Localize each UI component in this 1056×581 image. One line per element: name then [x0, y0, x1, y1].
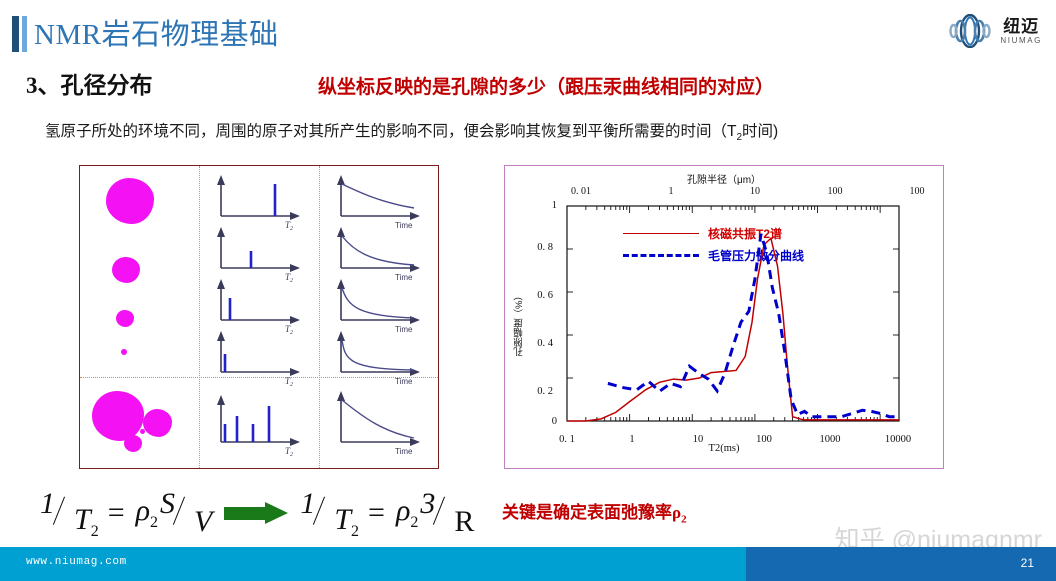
t2-spectrum-chart-panel: 孔隙半径（μm） 0. 01 1 10 100 100 孔隙幅度（%） 1 0.…: [504, 165, 944, 469]
slide-footer: www.niumag.com 21: [0, 547, 1056, 581]
red-annotation-bottom-text: 关键是确定表面弛豫率ρ: [502, 503, 681, 522]
pore-blob-medium: [112, 257, 140, 283]
niumag-wave-logo-icon: [947, 14, 993, 48]
title-accent-bars: [12, 16, 27, 52]
pore-blob-combined-large: [92, 391, 144, 441]
formula-right-rho-glyph: ρ: [396, 494, 410, 527]
svg-text:Time: Time: [395, 221, 413, 230]
pore-illustration-panel: T2 T2 T2 T2 T2: [79, 165, 439, 469]
pore-blob-tiny: [121, 349, 127, 355]
formula-equals-right: =: [368, 496, 385, 530]
red-annotation-bottom-sub: 2: [681, 513, 687, 525]
formula-left-t: T: [74, 503, 91, 536]
page-title: NMR岩石物理基础: [34, 11, 279, 53]
accent-bar-light: [22, 16, 27, 52]
formula-left-one: 1: [40, 487, 55, 521]
formula-right-rho-sub: 2: [410, 514, 418, 531]
pore-blobs-column-combined: [80, 377, 199, 468]
formula-equals-left: =: [108, 496, 125, 530]
formula-right-tsub: 2: [351, 523, 359, 540]
formula-left-rho-glyph: ρ: [136, 494, 150, 527]
pore-blob-combined-small: [124, 435, 142, 452]
formula-left-t2: T2: [74, 503, 99, 541]
formula-right-3: 3: [420, 487, 435, 521]
svg-text:T2: T2: [285, 446, 293, 458]
body-paragraph-part-b: 时间): [742, 123, 778, 140]
svg-text:T2: T2: [285, 272, 293, 284]
footer-website-url: www.niumag.com: [26, 556, 127, 568]
formula-left-sv: S V: [160, 496, 212, 530]
formula-left-rho: ρ2: [136, 494, 158, 532]
formula-left-tsub: 2: [91, 523, 99, 540]
svg-text:T2: T2: [285, 220, 293, 232]
accent-bar-dark: [12, 16, 19, 52]
pore-blob-small: [116, 310, 134, 327]
slide-page-number: 21: [1021, 556, 1034, 570]
formula-left-rho-sub: 2: [150, 514, 158, 531]
section-heading: 3、孔径分布: [26, 66, 153, 100]
formula-left-fraction: 1 T2: [40, 494, 99, 532]
red-annotation-top: 纵坐标反映的是孔隙的多少（跟压汞曲线相同的对应）: [318, 72, 774, 99]
logo-wordmark: 纽迈 NIUMAG: [1000, 18, 1042, 45]
svg-text:T2: T2: [285, 324, 293, 336]
formula-right-3r: 3 R: [420, 496, 474, 530]
svg-text:Time: Time: [395, 325, 413, 334]
red-annotation-bottom: 关键是确定表面弛豫率ρ2: [502, 498, 687, 525]
niumag-logo: 纽迈 NIUMAG: [947, 14, 1042, 48]
chart-plot-area: [505, 166, 945, 470]
body-paragraph: 氢原子所处的环境不同，周围的原子对其所产生的影响不同，便会影响其恢复到平衡所需要…: [45, 119, 778, 143]
svg-text:Time: Time: [395, 273, 413, 282]
arrow-shaft: [224, 507, 266, 520]
pore-blob-combined-medium: [143, 409, 172, 437]
pore-blobs-column-top: [80, 166, 199, 377]
svg-text:Time: Time: [395, 377, 413, 386]
formula-right-one: 1: [300, 487, 315, 521]
formula-right-r: R: [454, 505, 474, 539]
formula-left-s: S: [160, 487, 175, 521]
footer-right-block: [746, 547, 1056, 581]
body-paragraph-part-a: 氢原子所处的环境不同，周围的原子对其所产生的影响不同，便会影响其恢复到平衡所需要…: [45, 123, 736, 140]
pore-blob-combined-tiny: [140, 429, 145, 434]
svg-text:T2: T2: [285, 376, 293, 388]
logo-name-cn: 纽迈: [1003, 18, 1039, 35]
logo-name-en: NIUMAG: [1000, 37, 1042, 45]
formula-right-t2: T2: [334, 503, 359, 541]
formula-right-fraction: 1 T2: [300, 494, 359, 532]
illustration-grid: T2 T2 T2 T2 T2: [80, 166, 438, 468]
decay-curves-column: Time Time Time Time Time: [319, 166, 438, 468]
formula-right-rho: ρ2: [396, 494, 418, 532]
slide-header: NMR岩石物理基础 纽迈 NIUMAG: [0, 0, 1056, 58]
pore-blob-large: [106, 178, 154, 224]
relaxation-formula: 1 T2 = ρ2 S V 1 T2 = ρ2 3 R: [40, 482, 474, 544]
svg-text:Time: Time: [395, 447, 413, 456]
formula-left-v: V: [194, 505, 212, 539]
arrow-head: [265, 502, 288, 524]
green-right-arrow-icon: [224, 502, 288, 524]
formula-right-t: T: [334, 503, 351, 536]
t2-spectra-column: T2 T2 T2 T2 T2: [199, 166, 319, 468]
